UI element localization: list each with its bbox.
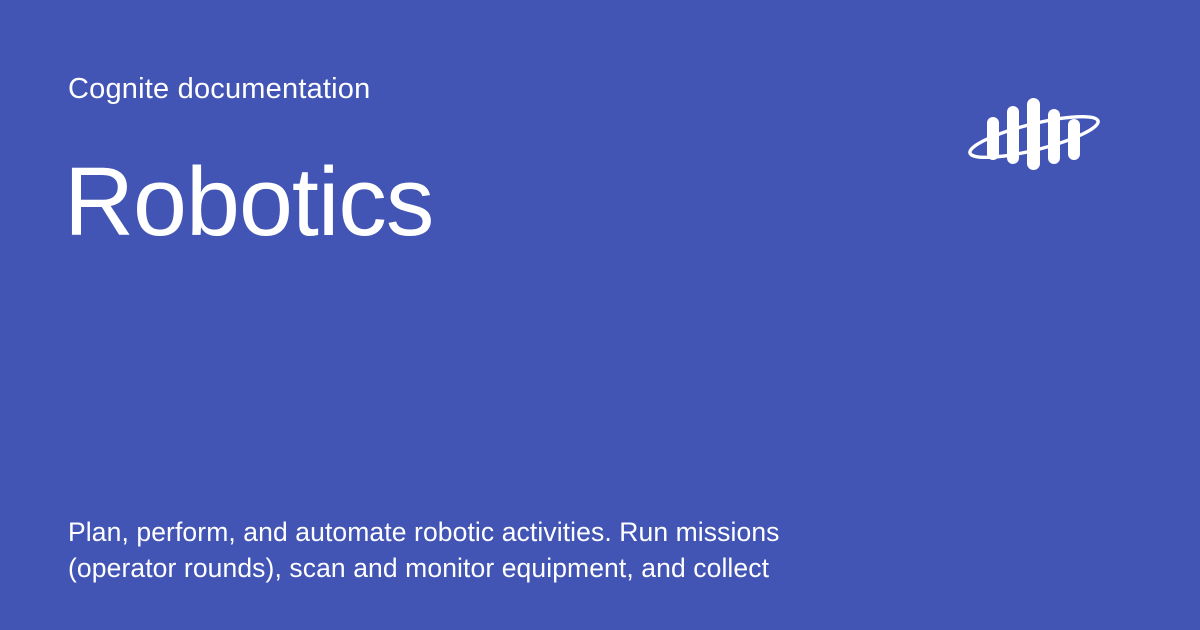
site-name-eyebrow: Cognite documentation [68, 70, 370, 108]
description-line-2: (operator rounds), scan and monitor equi… [68, 550, 898, 586]
description-line-1: Plan, perform, and automate robotic acti… [68, 514, 898, 550]
cognite-logo [963, 92, 1113, 172]
og-social-card: Cognite documentation Robotics Plan, per… [0, 0, 1200, 630]
cognite-logo-icon [963, 92, 1113, 172]
logo-bar-3 [1027, 98, 1040, 170]
page-title: Robotics [64, 150, 433, 254]
page-description: Plan, perform, and automate robotic acti… [68, 514, 898, 586]
